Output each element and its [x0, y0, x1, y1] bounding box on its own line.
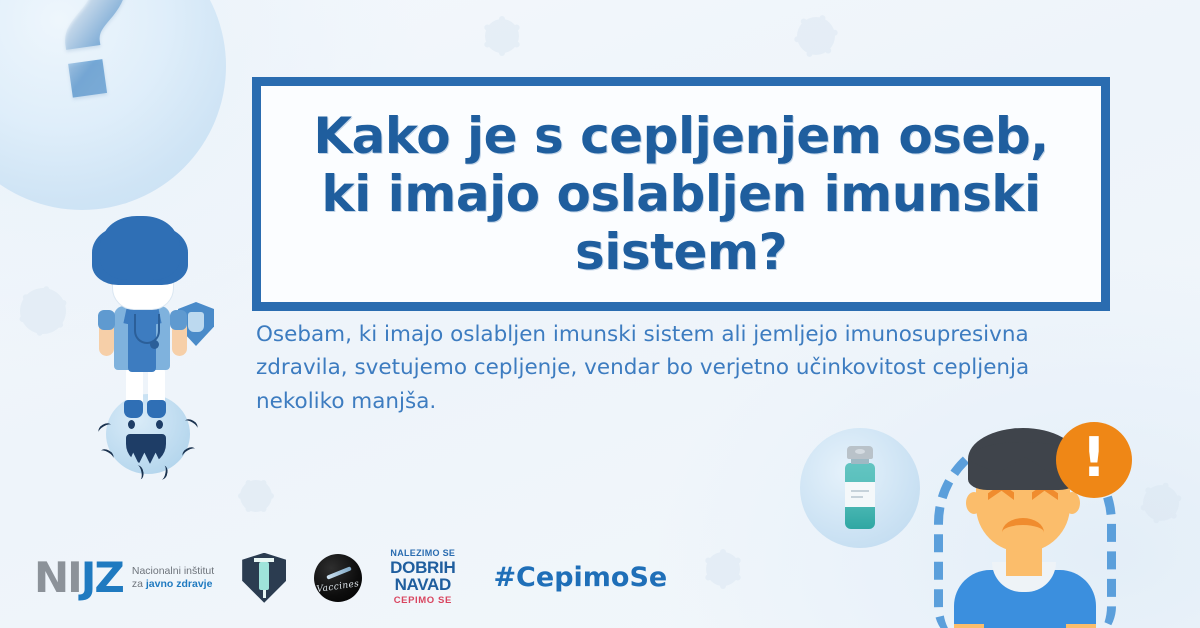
virus-leg — [133, 465, 144, 480]
nijz-wordmark: NIJZ — [34, 557, 123, 599]
dobrih-navad-logo[interactable]: NALEZIMO SE DOBRIH NAVAD CEPIMO SE — [390, 549, 455, 606]
navad-line2: DOBRIH — [390, 559, 455, 576]
vaccines-logo-text: Vaccines — [314, 578, 362, 595]
doctor-boot — [147, 400, 166, 418]
virus-leg — [97, 421, 114, 436]
title-line-2: ki imajo oslabljen imunski — [321, 165, 1040, 223]
doctor-hair — [100, 218, 180, 280]
virus-leg — [99, 447, 116, 462]
doctor-sleeve — [98, 310, 115, 330]
warning-exclamation-icon: ! — [1056, 422, 1132, 498]
person-shoulder — [1066, 624, 1096, 628]
vaccine-vial-icon — [844, 446, 876, 530]
warning-exclamation-glyph: ! — [1082, 431, 1107, 485]
doctor-illustration — [74, 218, 214, 436]
navad-line3: NAVAD — [390, 576, 455, 593]
nijz-subtitle-bold: javno zdravje — [146, 578, 213, 590]
nijz-subtitle-prefix: za — [132, 578, 146, 590]
virus-watermark — [690, 536, 756, 602]
campaign-hashtag[interactable]: #CepimoSe — [493, 562, 667, 593]
virus-watermark — [780, 0, 852, 72]
virus-watermark — [226, 466, 286, 526]
immunocompromised-person-illustration: ! — [930, 418, 1140, 628]
question-bubble: ? — [0, 0, 226, 210]
virus-leg — [157, 465, 168, 480]
nijz-mark-ni: NI — [34, 553, 81, 602]
title-line-1: Kako je s cepljenjem oseb, — [313, 107, 1048, 165]
virus-leg — [181, 445, 198, 460]
vial-label — [845, 482, 875, 507]
vaccines-logo[interactable]: Vaccines — [314, 554, 362, 602]
nijz-subtitle: Nacionalni inštitut za javno zdravje — [132, 565, 214, 591]
poster-canvas: ? Kako je s cepljenjem oseb, ki imajo os… — [0, 0, 1200, 628]
nijz-subtitle-line1: Nacionalni inštitut — [132, 565, 214, 578]
syringe-icon — [259, 562, 269, 590]
shield-syringe-logo[interactable] — [242, 553, 286, 603]
footer-logos: NIJZ Nacionalni inštitut za javno zdravj… — [34, 549, 667, 606]
navad-line4: CEPIMO SE — [390, 596, 455, 606]
person-frown-mouth — [1002, 518, 1044, 547]
nijz-logo[interactable]: NIJZ Nacionalni inštitut za javno zdravj… — [34, 557, 214, 599]
virus-eye — [156, 420, 163, 429]
question-mark-icon: ? — [17, 0, 157, 133]
page-title: Kako je s cepljenjem oseb, ki imajo osla… — [287, 107, 1074, 281]
face-mask-icon — [112, 276, 174, 310]
body-paragraph: Osebam, ki imajo oslabljen imunski siste… — [256, 318, 1122, 418]
syringe-icon — [326, 566, 352, 579]
stethoscope-icon — [134, 314, 160, 344]
doctor-boot — [124, 400, 143, 418]
virus-watermark — [470, 4, 534, 68]
person-shoulder — [954, 624, 984, 628]
nijz-mark-jz: JZ — [81, 553, 123, 602]
title-box: Kako je s cepljenjem oseb, ki imajo osla… — [252, 77, 1110, 311]
vial-cap — [847, 446, 873, 459]
title-line-3: sistem? — [575, 223, 787, 281]
nijz-subtitle-line2: za javno zdravje — [132, 578, 214, 591]
doctor-sleeve — [170, 310, 187, 330]
virus-eye — [128, 420, 135, 429]
virus-leg — [183, 417, 200, 432]
vaccine-vial-badge — [800, 428, 920, 548]
virus-mouth — [126, 434, 166, 464]
